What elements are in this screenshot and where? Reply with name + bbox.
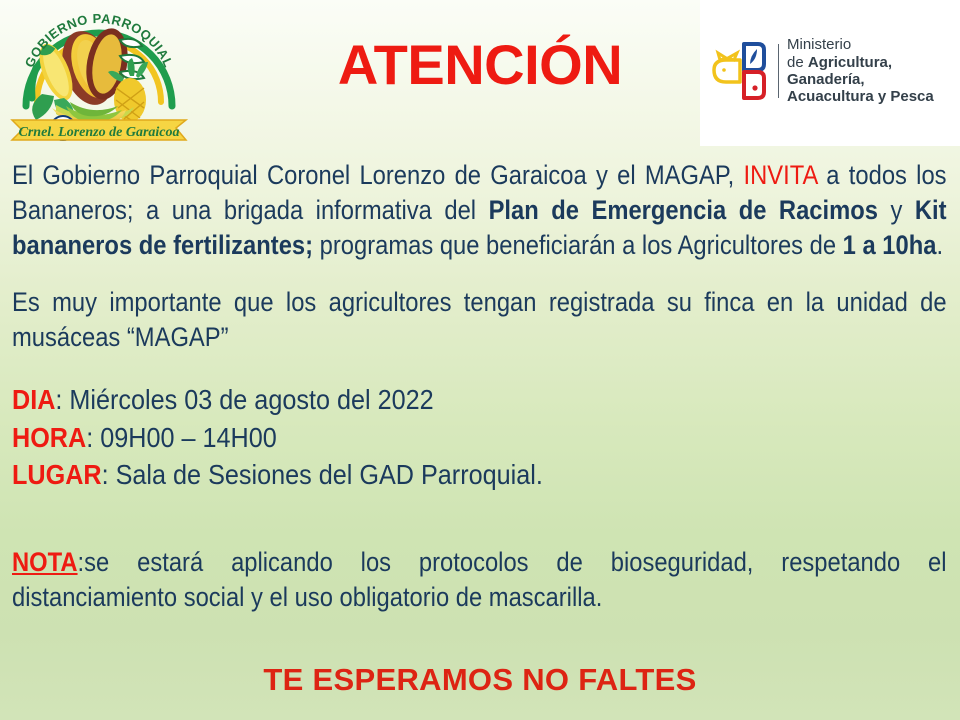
- paragraph-invitation: El Gobierno Parroquial Coronel Lorenzo d…: [12, 158, 947, 263]
- detail-row-dia: DIA: Miércoles 03 de agosto del 2022: [12, 381, 948, 418]
- note-block: NOTA:se estará aplicando los protocolos …: [12, 545, 947, 615]
- gad-parish-seal-icon: GOBIERNO PARROQUIAL Crnel. Lorenzo de Ga…: [6, 2, 192, 142]
- detail-value-lugar: Sala de Sesiones del GAD Parroquial.: [116, 459, 543, 490]
- note-text: se estará aplicando los protocolos de bi…: [12, 547, 947, 612]
- p1-seg9: .: [936, 230, 943, 260]
- p1-seg7: programas que beneficiarán a los Agricul…: [313, 230, 843, 260]
- detail-label-dia: DIA: [12, 384, 55, 415]
- p1-hectares: 1 a 10ha: [843, 230, 937, 260]
- detail-row-lugar: LUGAR: Sala de Sesiones del GAD Parroqui…: [12, 456, 948, 493]
- ministry-line-1: Ministerio: [787, 36, 950, 53]
- event-details: DIA: Miércoles 03 de agosto del 2022 HOR…: [12, 381, 948, 493]
- ministry-line-2-prefix: de: [787, 54, 808, 71]
- p1-seg1: El Gobierno Parroquial Coronel Lorenzo d…: [12, 160, 744, 190]
- detail-value-dia: Miércoles 03 de agosto del 2022: [69, 384, 433, 415]
- p1-seg5: y: [878, 195, 915, 225]
- ministry-mark-icon: [712, 40, 774, 102]
- poster-body: El Gobierno Parroquial Coronel Lorenzo d…: [0, 150, 960, 615]
- detail-label-lugar: LUGAR: [12, 459, 102, 490]
- ministry-divider: [778, 44, 779, 98]
- paragraph-registration: Es muy importante que los agricultores t…: [12, 285, 947, 355]
- p1-program-1: Plan de Emergencia de Racimos: [489, 195, 878, 225]
- detail-label-hora: HORA: [12, 422, 86, 453]
- detail-sep-hora: :: [86, 422, 93, 453]
- ministry-logo-panel: Ministerio de Agricultura, Ganadería, Ac…: [700, 0, 960, 146]
- seal-ribbon-text: Crnel. Lorenzo de Garaicoa: [19, 125, 180, 140]
- ministry-magap-icon: Ministerio de Agricultura, Ganadería, Ac…: [712, 28, 950, 114]
- detail-row-hora: HORA: 09H00 – 14H00: [12, 419, 948, 456]
- poster-canvas: GOBIERNO PARROQUIAL Crnel. Lorenzo de Ga…: [0, 0, 960, 720]
- detail-sep-lugar: :: [102, 459, 109, 490]
- detail-sep-dia: :: [55, 384, 62, 415]
- ministry-name-text: Ministerio de Agricultura, Ganadería, Ac…: [787, 36, 950, 106]
- ministry-line-2: de Agricultura, Ganadería,: [787, 54, 950, 89]
- poster-header: GOBIERNO PARROQUIAL Crnel. Lorenzo de Ga…: [0, 0, 960, 148]
- p2-text: Es muy importante que los agricultores t…: [12, 287, 947, 352]
- footer-callout: TE ESPERAMOS NO FALTES: [0, 662, 960, 698]
- detail-value-hora: 09H00 – 14H00: [100, 422, 277, 453]
- note-label: NOTA: [12, 547, 78, 577]
- p1-invita-highlight: INVITA: [744, 160, 818, 190]
- ministry-line-3: Acuacultura y Pesca: [787, 88, 950, 105]
